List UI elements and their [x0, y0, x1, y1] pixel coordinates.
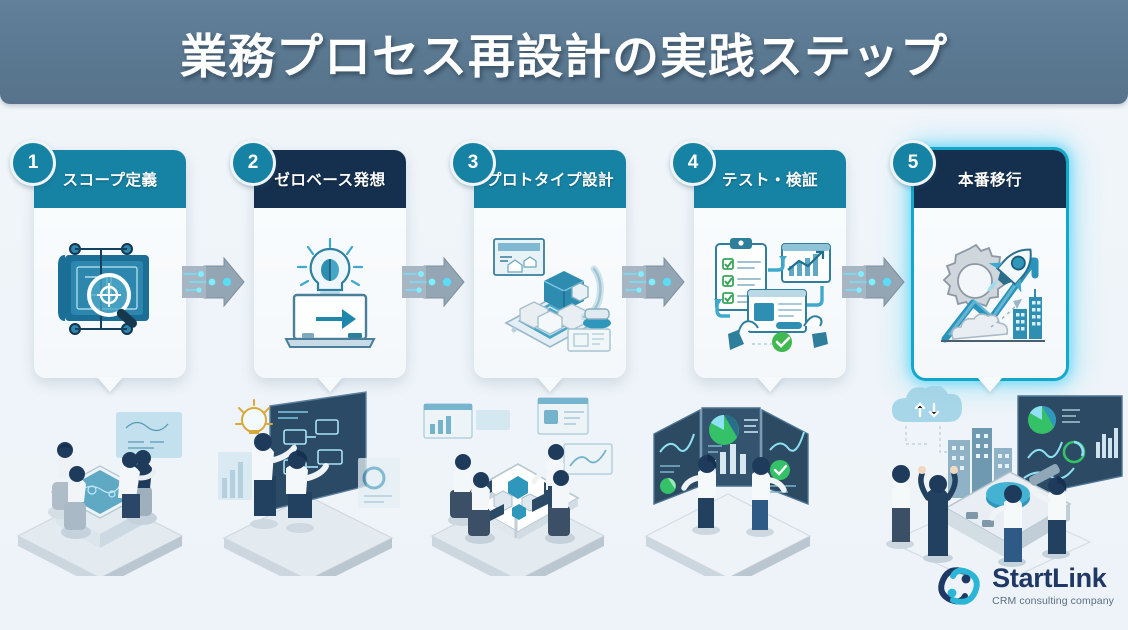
- step-card-4[interactable]: テスト・検証: [668, 138, 846, 388]
- step-card-1-header: スコープ定義: [34, 150, 186, 208]
- step-card-5-body[interactable]: 本番移行: [914, 150, 1066, 378]
- blueprint-magnifier-icon: [51, 233, 169, 353]
- step-badge-3: 3: [450, 140, 496, 186]
- step-card-1-body[interactable]: スコープ定義: [34, 150, 186, 378]
- step-card-5[interactable]: 本番移行: [888, 138, 1066, 388]
- step-card-3-illustration: [474, 208, 626, 378]
- step-card-4-label: テスト・検証: [722, 168, 818, 190]
- team-holographic-table-scene: [0, 386, 206, 576]
- step-badge-2: 2: [230, 140, 276, 186]
- startlink-swirl-logo-icon: [935, 562, 983, 610]
- steps-row: スコープ定義: [0, 138, 1128, 388]
- step-card-3-header: プロトタイプ設計: [474, 150, 626, 208]
- step-card-4-illustration: [694, 208, 846, 378]
- step-badge-1: 1: [10, 140, 56, 186]
- arrow-3-to-4: [620, 256, 686, 308]
- step-card-1[interactable]: スコープ定義: [8, 138, 186, 388]
- step-card-4-body[interactable]: テスト・検証: [694, 150, 846, 378]
- lightbulb-brain-laptop-icon: [268, 233, 392, 353]
- arrow-1-to-2: [180, 256, 246, 308]
- step-card-5-illustration: [914, 208, 1066, 378]
- step-card-2-illustration: [254, 208, 406, 378]
- step-card-4-header: テスト・検証: [694, 150, 846, 208]
- step-card-5-header: 本番移行: [914, 150, 1066, 208]
- flowchart-brainstorm-scene: [208, 386, 414, 576]
- page-title: 業務プロセス再設計の実践ステップ: [0, 0, 1128, 104]
- step-card-3-label: プロトタイプ設計: [486, 168, 614, 190]
- step-badge-4: 4: [670, 140, 716, 186]
- tablet-3d-cubes-robot-arm-icon: [484, 231, 616, 355]
- logo-tagline: CRM consulting company: [992, 596, 1114, 607]
- step-card-1-label: スコープ定義: [62, 168, 157, 190]
- step-card-2-header: ゼロベース発想: [254, 150, 406, 208]
- step-card-1-illustration: [34, 208, 186, 378]
- brand-logo: StartLink CRM consulting company: [935, 558, 1114, 614]
- step-badge-5: 5: [890, 140, 936, 186]
- scenes-row: [0, 386, 1128, 576]
- infographic-canvas: 業務プロセス再設計の実践ステップ スコープ定義: [0, 0, 1128, 630]
- step-card-2[interactable]: ゼロベース発想: [228, 138, 406, 388]
- dashboard-wall-review-scene: [628, 386, 834, 576]
- arrow-4-to-5: [840, 256, 906, 308]
- rocket-gear-growth-icon: [925, 231, 1055, 355]
- checklist-chart-hands-icon: [704, 230, 836, 356]
- arrow-2-to-3: [400, 256, 466, 308]
- prototype-desks-scene: [418, 386, 624, 576]
- step-card-2-label: ゼロベース発想: [274, 168, 385, 190]
- step-card-3[interactable]: プロトタイプ設計: [448, 138, 626, 388]
- go-live-celebration-scene: [860, 386, 1128, 576]
- step-card-5-label: 本番移行: [958, 168, 1022, 190]
- logo-name: StartLink: [992, 565, 1114, 592]
- step-card-3-body[interactable]: プロトタイプ設計: [474, 150, 626, 378]
- step-card-2-body[interactable]: ゼロベース発想: [254, 150, 406, 378]
